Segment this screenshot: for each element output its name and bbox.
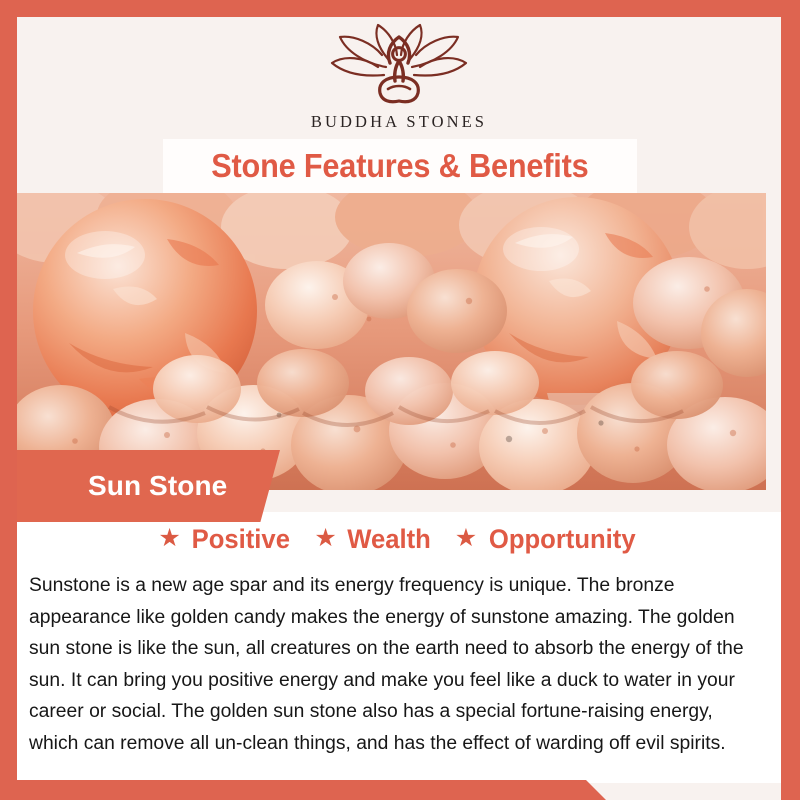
brand-lockup: BUDDHA STONES — [17, 23, 781, 132]
benefit-keyword-label: Positive — [191, 524, 289, 555]
frame-left-rail — [0, 0, 17, 800]
sunstone-photo — [17, 193, 766, 491]
benefit-keyword-opportunity: ★ Opportunity — [455, 524, 640, 555]
frame-right-rail — [781, 0, 800, 783]
stone-description-paragraph: Sunstone is a new age spar and its energ… — [29, 570, 760, 759]
sunstone-photo-illustration — [17, 193, 766, 491]
brand-name: BUDDHA STONES — [311, 112, 487, 132]
frame-bottom-bar — [0, 780, 606, 800]
benefit-keyword-label: Opportunity — [489, 524, 636, 555]
benefit-keyword-wealth: ★ Wealth — [314, 524, 432, 555]
benefit-keyword-positive: ★ Positive — [158, 524, 292, 555]
star-icon: ★ — [455, 526, 477, 551]
frame-top-rail — [0, 0, 800, 17]
star-icon: ★ — [314, 526, 336, 551]
stone-name-banner: Sun Stone — [0, 450, 280, 522]
lotus-meditating-figure-icon — [324, 23, 474, 107]
product-info-poster: BUDDHA STONES Stone Features & Benefits … — [0, 0, 800, 800]
stone-name-label: Sun Stone — [88, 470, 227, 502]
star-icon: ★ — [158, 526, 180, 551]
page-title: Stone Features & Benefits — [211, 147, 588, 185]
benefit-keyword-label: Wealth — [347, 524, 431, 555]
content-panel: ★ Positive ★ Wealth ★ Opportunity Sunsto… — [17, 490, 781, 783]
title-band: Stone Features & Benefits — [163, 139, 637, 193]
